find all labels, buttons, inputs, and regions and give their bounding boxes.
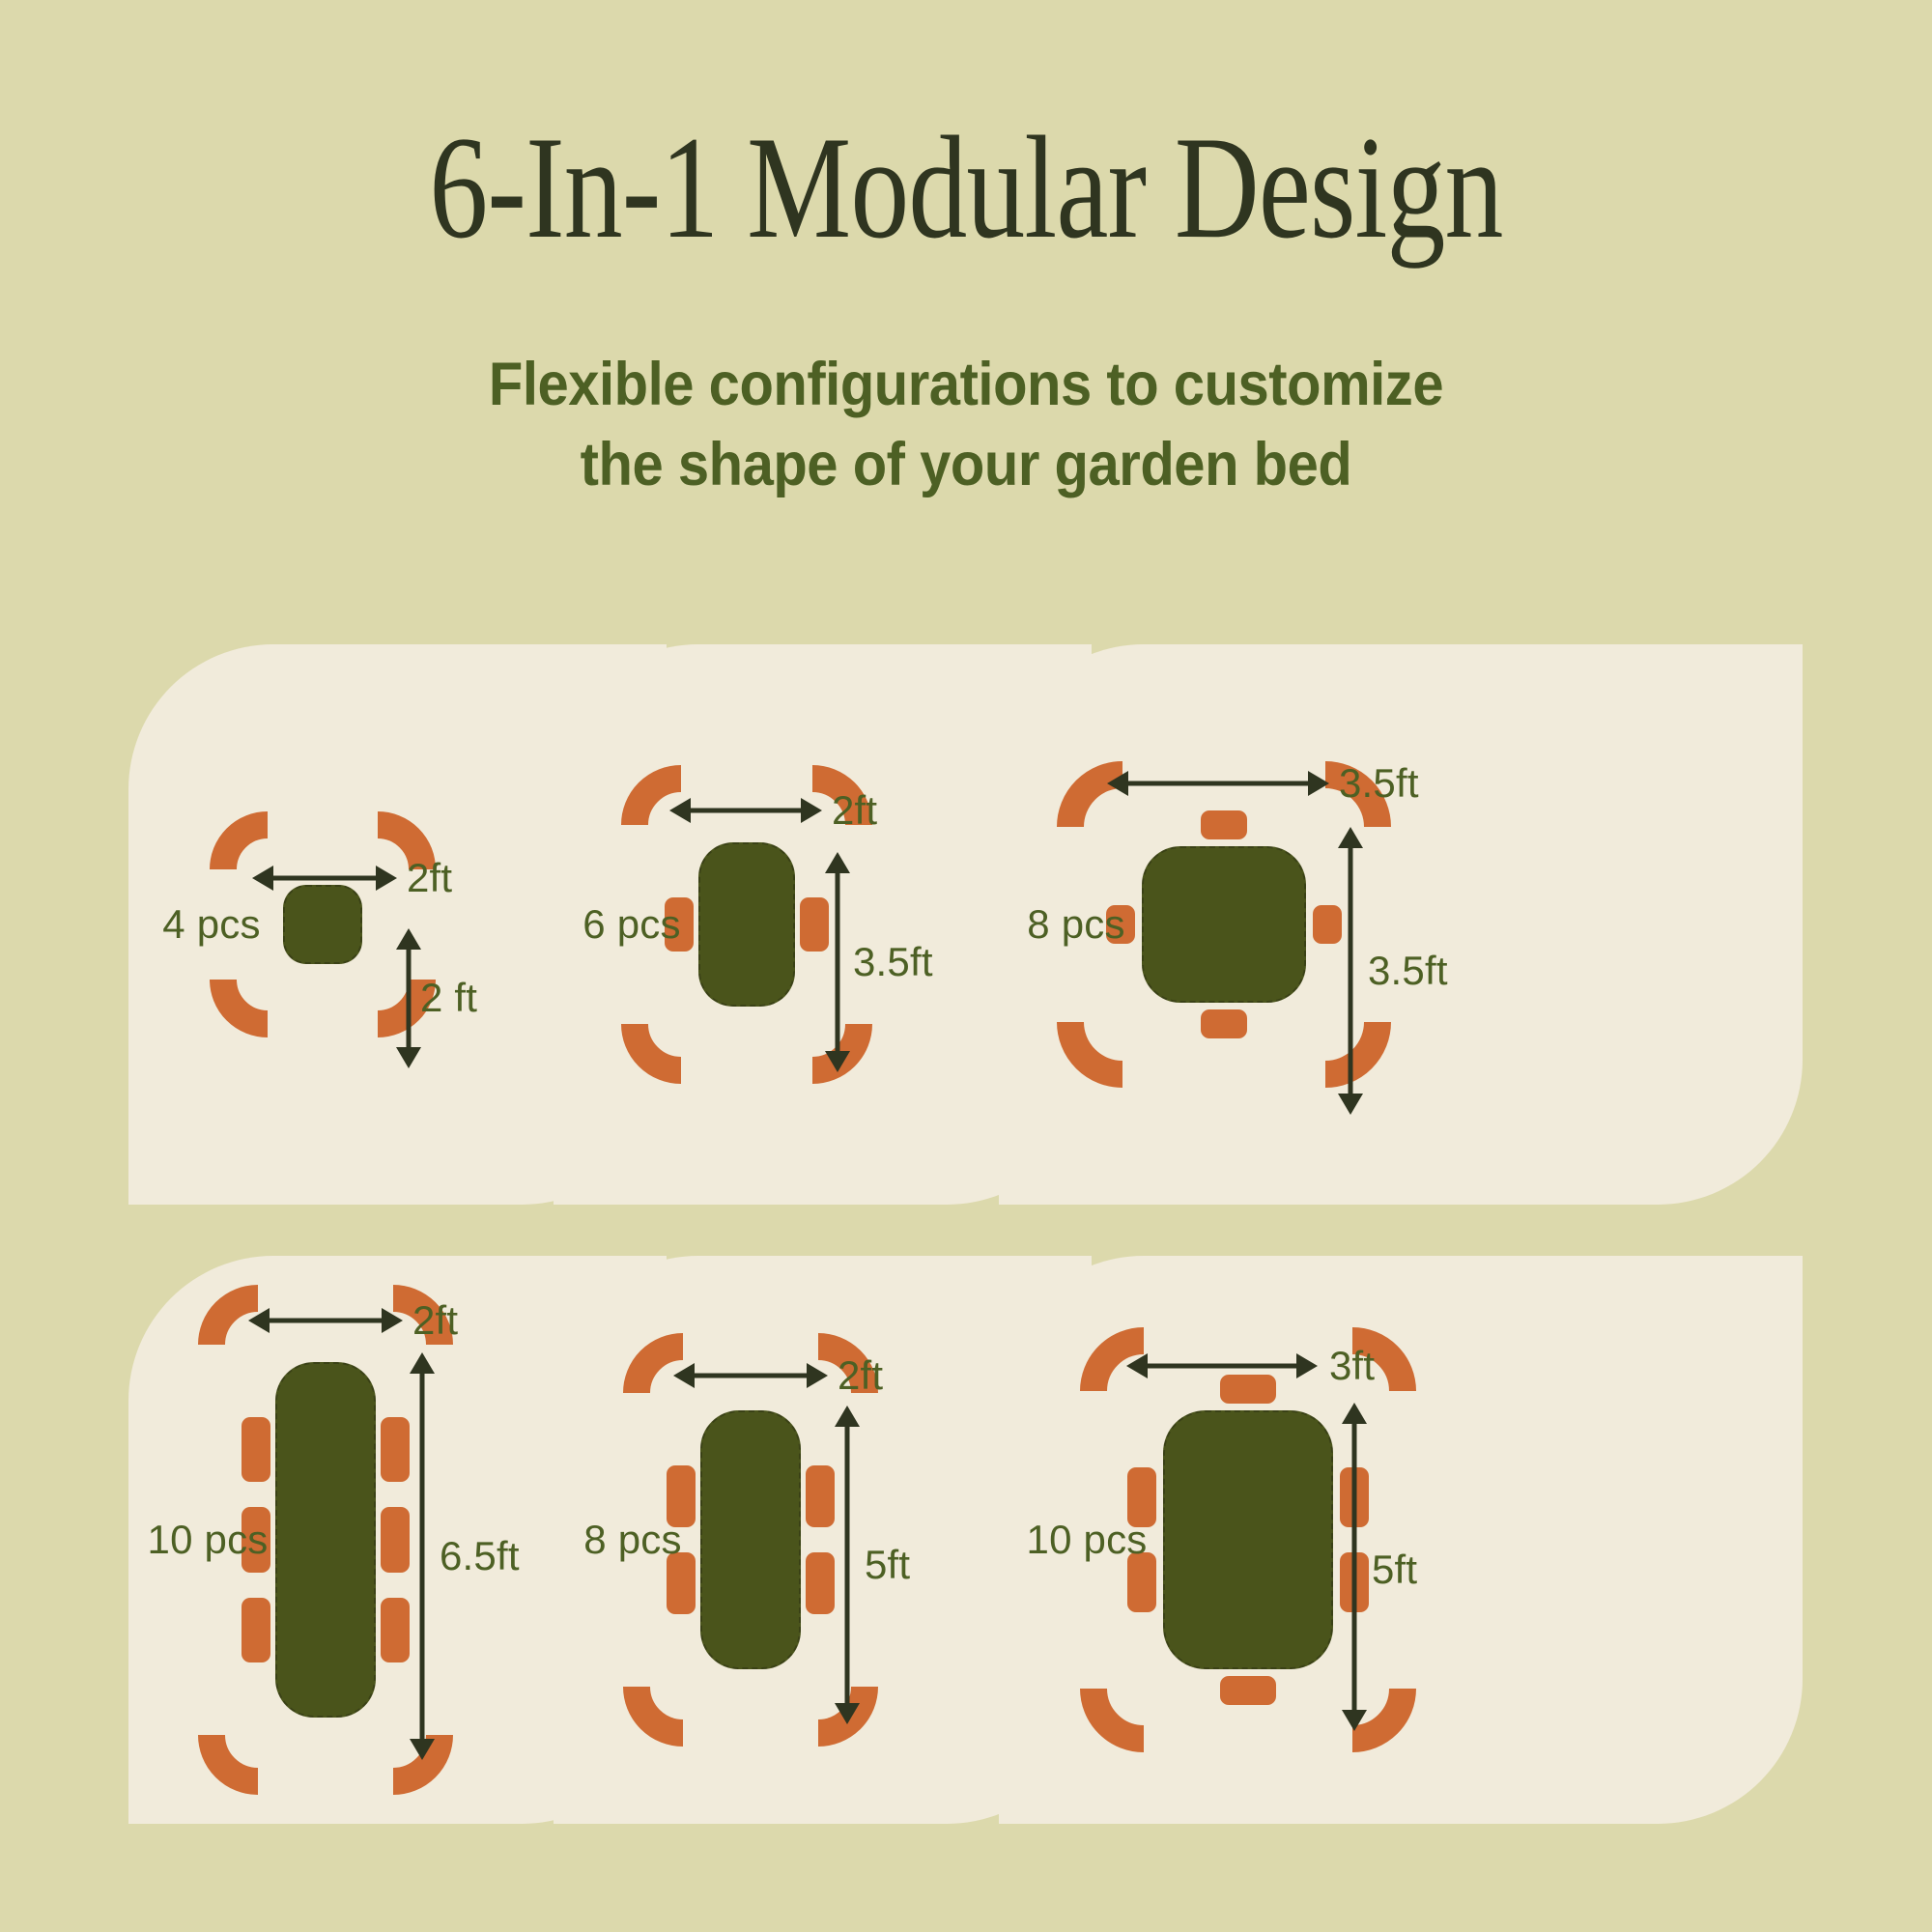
corner-arc-shape	[623, 1687, 683, 1747]
corner-arc-piece-4	[210, 980, 268, 1037]
pieces-count-label: 10 pcs	[148, 1517, 269, 1563]
side-piece-right-1	[806, 1465, 835, 1527]
width-dimension-arrow	[673, 1360, 828, 1391]
height-dimension-arrow	[407, 1352, 438, 1760]
width-dimension-arrow	[248, 1305, 403, 1336]
side-piece-left-1	[241, 1417, 270, 1482]
side-piece-left-3	[241, 1598, 270, 1662]
height-dimension-label: 5ft	[1372, 1547, 1417, 1593]
config-diagram-config-10pcs-wide: 10 pcs3ft5ft	[999, 1256, 1803, 1824]
side-piece-right-1	[381, 1417, 410, 1482]
width-dimension-label: 3.5ft	[1339, 760, 1419, 807]
corner-arc-shape	[210, 811, 268, 869]
corner-arc-piece-4	[623, 1687, 683, 1747]
height-dimension-label: 3.5ft	[853, 939, 933, 985]
side-piece-right-2	[381, 1507, 410, 1572]
page-subtitle: Flexible configurations to customize the…	[77, 345, 1855, 505]
garden-bed-fill	[275, 1362, 376, 1718]
corner-arc-piece-1	[210, 811, 268, 869]
pieces-count-label: 8 pcs	[1027, 901, 1124, 948]
pieces-count-label: 10 pcs	[1027, 1517, 1148, 1563]
height-dimension-label: 6.5ft	[440, 1533, 520, 1579]
garden-bed-fill	[1142, 846, 1306, 1003]
corner-arc-piece-4	[621, 1024, 681, 1084]
garden-bed-fill	[283, 885, 362, 964]
side-piece-right-2	[806, 1552, 835, 1614]
height-dimension-label: 2 ft	[420, 975, 477, 1021]
corner-arc-shape	[1057, 1022, 1122, 1088]
corner-arc-shape	[198, 1735, 258, 1795]
height-dimension-arrow	[822, 852, 853, 1072]
height-dimension-arrow	[832, 1406, 863, 1724]
width-dimension-arrow	[669, 795, 822, 826]
side-piece-right-3	[381, 1598, 410, 1662]
height-dimension-label: 3.5ft	[1368, 948, 1448, 994]
height-dimension-label: 5ft	[865, 1542, 910, 1588]
end-piece-bottom-1	[1201, 1009, 1247, 1038]
corner-arc-shape	[210, 980, 268, 1037]
width-dimension-label: 2ft	[832, 787, 877, 834]
config-diagram-config-8pcs-square: 8 pcs3.5ft3.5ft	[999, 644, 1803, 1205]
width-dimension-label: 2ft	[412, 1297, 458, 1344]
width-dimension-arrow	[1107, 768, 1329, 799]
garden-bed-fill	[698, 842, 795, 1007]
width-dimension-label: 3ft	[1329, 1343, 1375, 1389]
pieces-count-label: 8 pcs	[583, 1517, 681, 1563]
garden-bed-fill	[1163, 1410, 1333, 1669]
height-dimension-arrow	[1335, 827, 1366, 1115]
width-dimension-arrow	[1126, 1350, 1318, 1381]
end-piece-bottom-1	[1220, 1676, 1276, 1705]
corner-arc-shape	[621, 1024, 681, 1084]
subtitle-line-1: Flexible configurations to customize	[77, 345, 1855, 425]
infographic-root: 6-In-1 Modular Design Flexible configura…	[0, 0, 1932, 1932]
subtitle-line-2: the shape of your garden bed	[77, 425, 1855, 505]
garden-bed-fill	[700, 1410, 801, 1669]
width-dimension-arrow	[252, 863, 397, 894]
width-dimension-label: 2ft	[838, 1352, 883, 1399]
end-piece-top-1	[1201, 810, 1247, 839]
config-card-config-10pcs-wide: 10 pcs3ft5ft	[999, 1256, 1803, 1824]
corner-arc-piece-4	[1057, 1022, 1122, 1088]
corner-arc-piece-4	[198, 1735, 258, 1795]
page-title: 6-In-1 Modular Design	[193, 114, 1739, 261]
pieces-count-label: 4 pcs	[162, 901, 260, 948]
height-dimension-arrow	[1339, 1403, 1370, 1731]
config-card-config-8pcs-square: 8 pcs3.5ft3.5ft	[999, 644, 1803, 1205]
pieces-count-label: 6 pcs	[582, 901, 680, 948]
corner-arc-shape	[1080, 1689, 1144, 1752]
width-dimension-label: 2ft	[407, 855, 452, 901]
corner-arc-piece-4	[1080, 1689, 1144, 1752]
